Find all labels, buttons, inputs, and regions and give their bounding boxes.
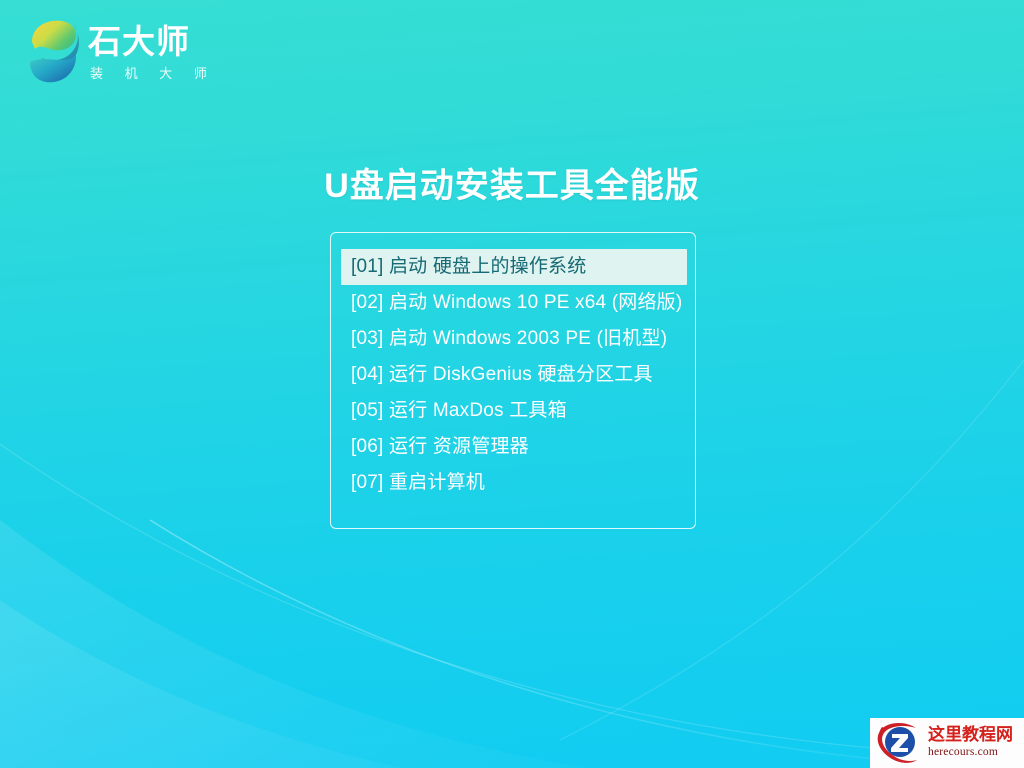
menu-item-02[interactable]: [02] 启动 Windows 10 PE x64 (网络版)	[331, 285, 695, 321]
menu-item-05[interactable]: [05] 运行 MaxDos 工具箱	[331, 393, 695, 429]
menu-item-06[interactable]: [06] 运行 资源管理器	[331, 429, 695, 465]
watermark-site-name: 这里教程网	[928, 726, 1013, 746]
watermark-site-url: herecours.com	[928, 746, 1013, 760]
boot-menu-panel: [01] 启动 硬盘上的操作系统 [02] 启动 Windows 10 PE x…	[330, 232, 696, 529]
page-title: U盘启动安装工具全能版	[0, 158, 1024, 207]
menu-item-03[interactable]: [03] 启动 Windows 2003 PE (旧机型)	[331, 321, 695, 357]
boot-menu-list: [01] 启动 硬盘上的操作系统 [02] 启动 Windows 10 PE x…	[331, 249, 695, 501]
site-watermark: 这里教程网 herecours.com	[870, 718, 1024, 768]
brand-name: 石大师	[88, 24, 216, 60]
brand-subtitle: 装 机 大 师	[88, 63, 216, 82]
menu-item-07[interactable]: [07] 重启计算机	[331, 465, 695, 501]
menu-item-01[interactable]: [01] 启动 硬盘上的操作系统	[341, 249, 687, 285]
boot-menu-screen: 石大师 装 机 大 师 U盘启动安装工具全能版 [01] 启动 硬盘上的操作系统…	[0, 0, 1024, 768]
brand-logo: 石大师 装 机 大 师	[24, 16, 216, 88]
z-circle-orbit-logo-icon	[876, 721, 924, 765]
shi-dashi-leaf-logo-icon	[24, 16, 82, 88]
menu-item-04[interactable]: [04] 运行 DiskGenius 硬盘分区工具	[331, 357, 695, 393]
